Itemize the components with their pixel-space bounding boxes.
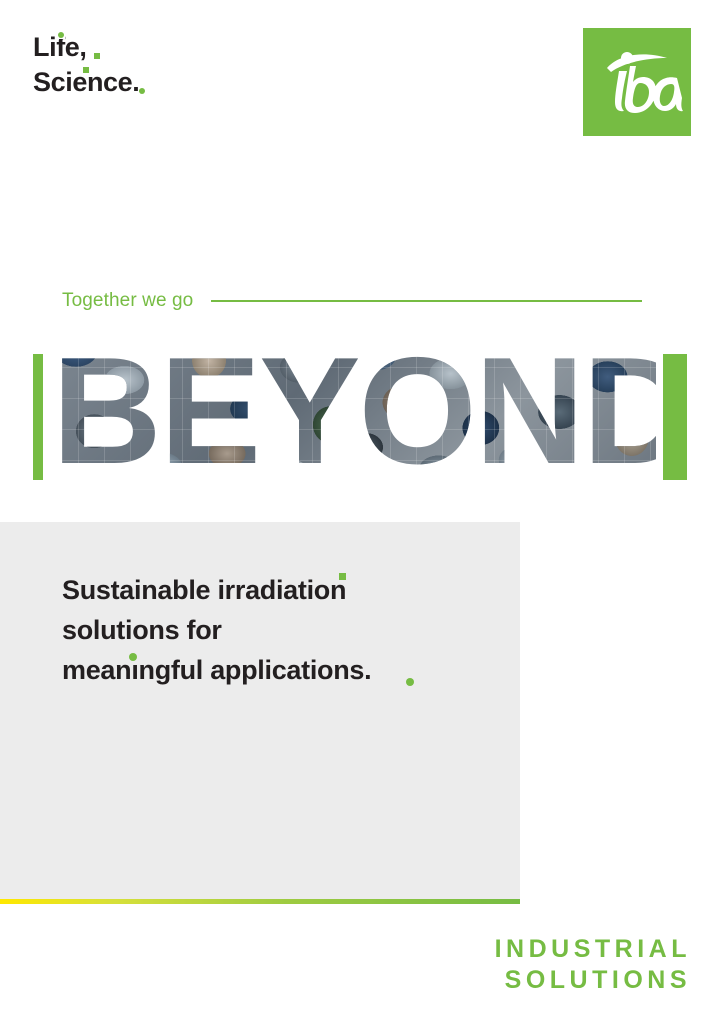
- headline-line-2: solutions for: [62, 610, 482, 650]
- tagline-rule: [211, 300, 642, 302]
- green-dot-accent-period: [139, 88, 145, 94]
- logo-line-science: Science.: [33, 65, 213, 100]
- headline-line-1: Sustainable irradiation: [62, 570, 482, 610]
- green-bar-left: [33, 354, 43, 480]
- beyond-wordmark-wrap: BEYOND: [52, 332, 656, 492]
- green-dot-accent-final-period: [406, 678, 414, 686]
- beyond-wordmark: BEYOND: [52, 332, 656, 492]
- tagline: Together we go: [62, 290, 642, 312]
- brochure-cover-page: Life, Science. Together we go: [0, 0, 724, 1024]
- logo-line-life: Life,: [33, 30, 213, 65]
- iba-logo: [583, 28, 691, 136]
- headline-line-2-text: solutions for: [62, 615, 222, 645]
- footer-line-industrial: INDUSTRIAL: [495, 934, 691, 965]
- green-dot-accent-i-life: [58, 32, 64, 38]
- headline-line-3: meaningful applications.: [62, 650, 482, 690]
- green-square-accent-comma: [94, 53, 100, 59]
- gradient-accent-line: [0, 899, 520, 904]
- footer-division: INDUSTRIAL SOLUTIONS: [495, 934, 691, 996]
- tagline-text: Together we go: [62, 290, 193, 312]
- headline-line-1-text: Sustainable irradiation: [62, 575, 346, 605]
- green-square-accent-i-irradiation: [339, 573, 346, 580]
- footer-line-solutions: SOLUTIONS: [495, 965, 691, 996]
- hero-beyond: BEYOND: [0, 332, 724, 492]
- life-science-logo: Life, Science.: [33, 30, 213, 99]
- headline: Sustainable irradiation solutions for me…: [62, 570, 482, 690]
- green-square-accent-i-science: [83, 67, 89, 73]
- headline-line-3-text: meaningful applications.: [62, 655, 371, 685]
- green-dot-accent-i-meaningful: [129, 653, 137, 661]
